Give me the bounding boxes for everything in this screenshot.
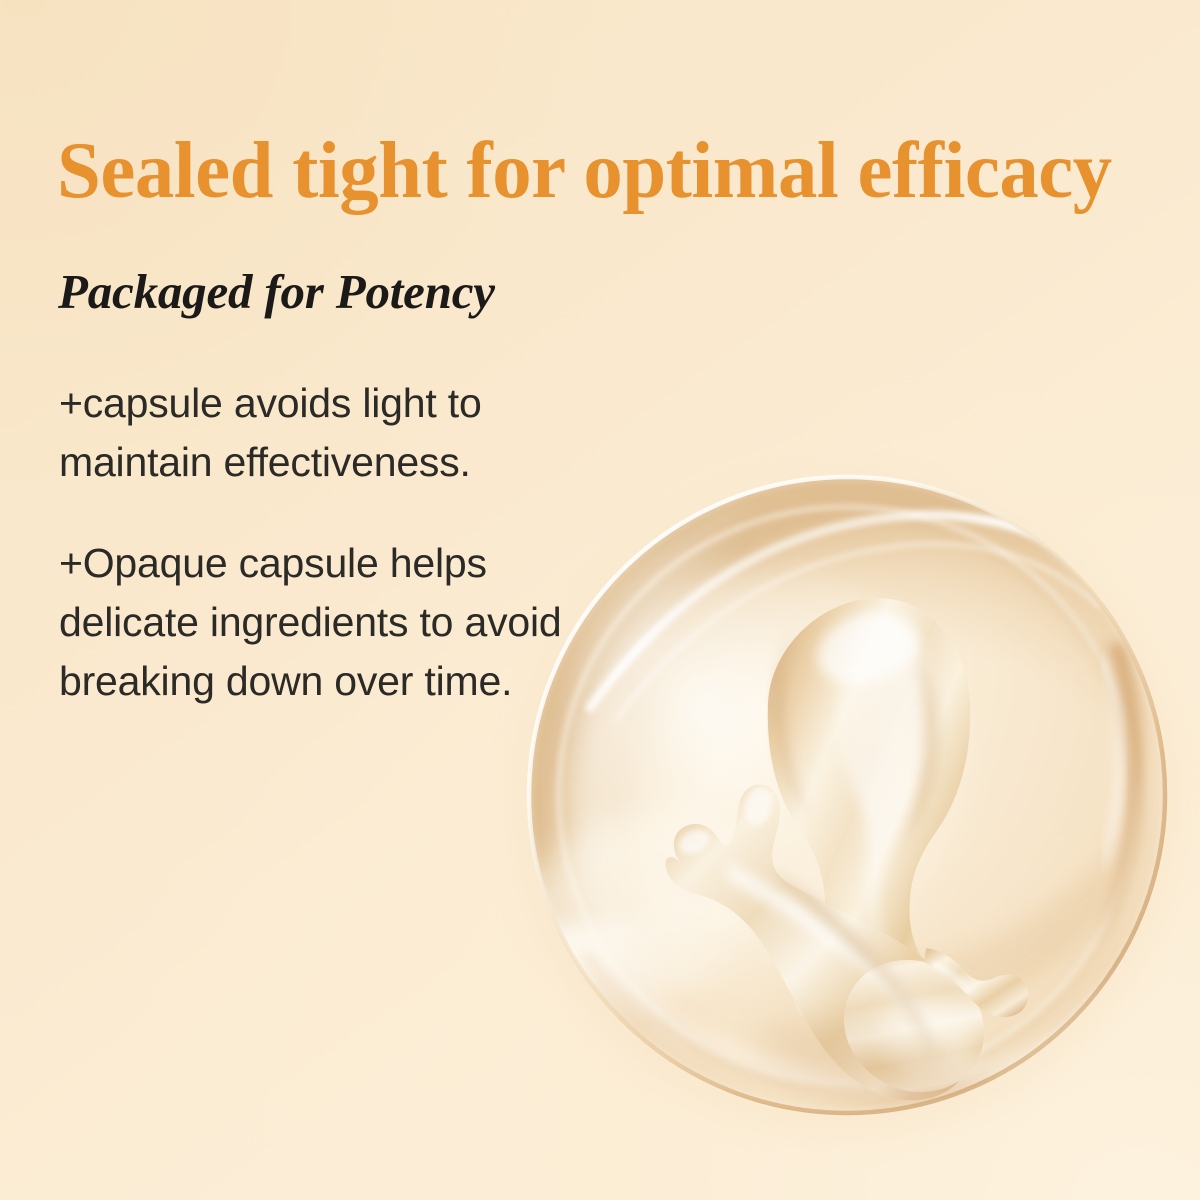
marketing-panel: Sealed tight for optimal efficacy Packag… (0, 0, 1200, 1200)
benefit-list: +capsule avoids light to maintain effect… (59, 374, 599, 711)
page-title: Sealed tight for optimal efficacy (57, 131, 1152, 211)
benefit-item-1: +capsule avoids light to maintain effect… (59, 374, 599, 492)
page-subtitle: Packaged for Potency (58, 265, 495, 320)
benefit-item-2: +Opaque capsule helps delicate ingredien… (59, 534, 599, 711)
hero-capsule-illustration (520, 470, 1190, 1120)
